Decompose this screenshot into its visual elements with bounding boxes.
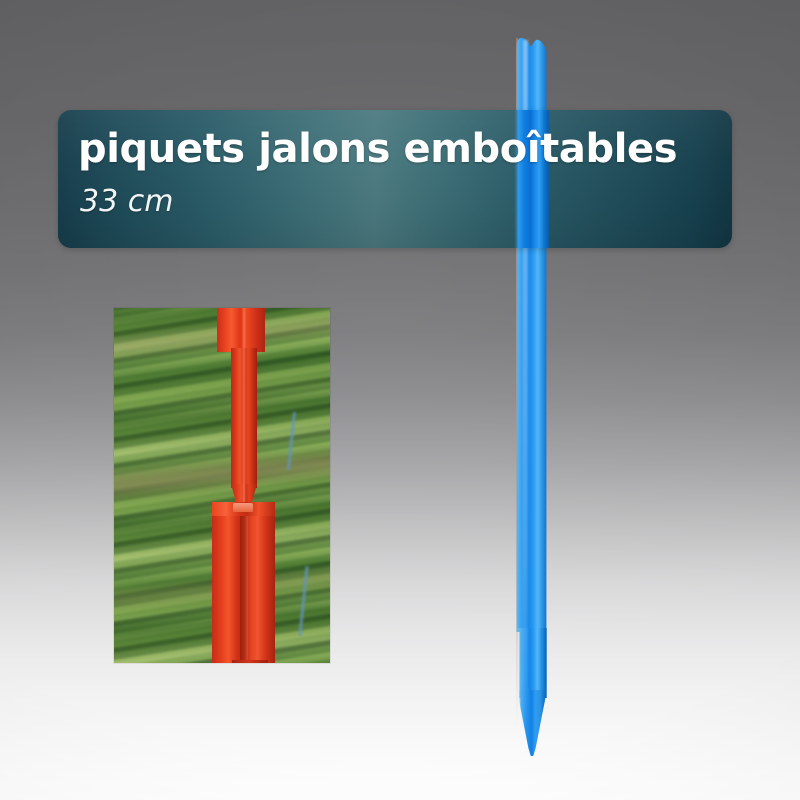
product-image-canvas: piquets jalons emboîtables 33 cm bbox=[0, 0, 800, 800]
title-banner-sheen bbox=[58, 110, 732, 248]
lower-stake-foot bbox=[232, 660, 268, 663]
upper-stake-rib bbox=[242, 308, 246, 513]
lower-stake-socket-opening bbox=[233, 503, 253, 512]
title-banner bbox=[58, 110, 732, 248]
product-photo-inset bbox=[114, 308, 330, 663]
upper-stake-head bbox=[217, 308, 265, 352]
lower-stake-groove bbox=[240, 508, 248, 663]
